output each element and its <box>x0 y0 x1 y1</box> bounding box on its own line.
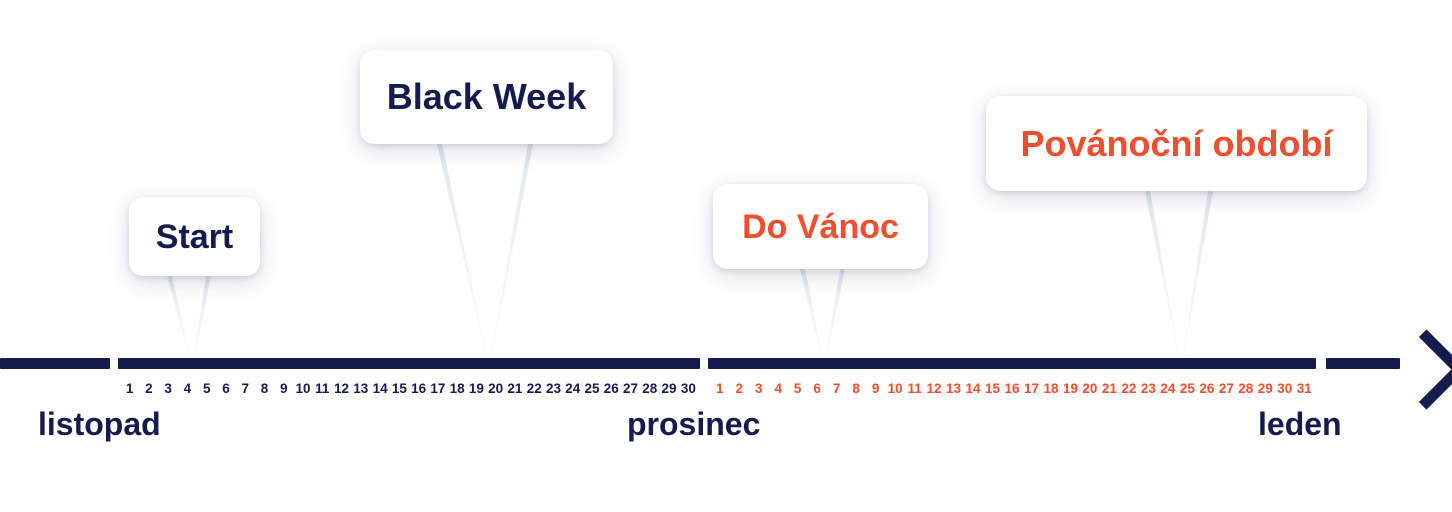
day-tick: 20 <box>486 382 505 396</box>
day-tick: 6 <box>807 382 826 396</box>
day-tick: 18 <box>448 382 467 396</box>
callout-label: Povánoční období <box>1021 126 1333 162</box>
day-tick: 26 <box>1197 382 1216 396</box>
day-tick: 24 <box>1158 382 1177 396</box>
month-label-prosinec: prosinec <box>627 408 760 440</box>
day-tick: 9 <box>866 382 885 396</box>
day-tick: 23 <box>544 382 563 396</box>
callout-do-vanoc[interactable]: Do Vánoc <box>713 184 928 269</box>
day-tick: 21 <box>1100 382 1119 396</box>
day-tick: 5 <box>197 382 216 396</box>
day-tick: 23 <box>1139 382 1158 396</box>
day-tick: 3 <box>749 382 768 396</box>
day-tick: 29 <box>659 382 678 396</box>
day-tick: 21 <box>505 382 524 396</box>
callout-label: Black Week <box>387 79 586 115</box>
day-tick: 8 <box>255 382 274 396</box>
day-tick: 26 <box>602 382 621 396</box>
month-label-leden: leden <box>1258 408 1342 440</box>
callout-pointer-povanocni-obdobi <box>1144 191 1214 358</box>
day-tick: 11 <box>905 382 924 396</box>
day-tick: 27 <box>621 382 640 396</box>
day-tick: 7 <box>236 382 255 396</box>
day-tick: 13 <box>944 382 963 396</box>
day-tick: 9 <box>274 382 293 396</box>
callout-start[interactable]: Start <box>129 197 260 276</box>
timeline-infographic: 1234567891011121314151617181920212223242… <box>0 0 1452 512</box>
day-tick: 12 <box>332 382 351 396</box>
day-tick: 25 <box>1178 382 1197 396</box>
day-tick: 10 <box>885 382 904 396</box>
day-tick: 3 <box>159 382 178 396</box>
day-tick: 6 <box>216 382 235 396</box>
day-tick: 19 <box>1061 382 1080 396</box>
day-tick: 20 <box>1080 382 1099 396</box>
axis-segment-listopad <box>118 358 700 369</box>
day-ticks-prosinec: 1234567891011121314151617181920212223242… <box>710 380 1314 398</box>
day-tick: 18 <box>1041 382 1060 396</box>
day-tick: 19 <box>467 382 486 396</box>
day-tick: 12 <box>924 382 943 396</box>
callout-label: Start <box>156 220 233 254</box>
day-tick: 13 <box>351 382 370 396</box>
day-tick: 28 <box>1236 382 1255 396</box>
day-tick: 14 <box>963 382 982 396</box>
day-tick: 22 <box>525 382 544 396</box>
day-tick: 17 <box>1022 382 1041 396</box>
day-tick: 30 <box>679 382 698 396</box>
day-tick: 5 <box>788 382 807 396</box>
callout-pointer-do-vanoc <box>799 269 846 358</box>
day-tick: 15 <box>983 382 1002 396</box>
day-tick: 16 <box>409 382 428 396</box>
day-tick: 2 <box>729 382 748 396</box>
day-tick: 10 <box>293 382 312 396</box>
day-tick: 4 <box>178 382 197 396</box>
day-tick: 1 <box>710 382 729 396</box>
callout-label: Do Vánoc <box>742 210 899 244</box>
callout-black-week[interactable]: Black Week <box>360 50 613 144</box>
callout-pointer-start <box>166 276 212 358</box>
day-tick: 2 <box>139 382 158 396</box>
day-tick: 15 <box>390 382 409 396</box>
day-tick: 31 <box>1295 382 1314 396</box>
arrow-right-icon <box>1386 329 1452 410</box>
day-tick: 25 <box>582 382 601 396</box>
axis-segment-lead-in <box>0 358 110 369</box>
day-tick: 28 <box>640 382 659 396</box>
callout-pointer-black-week <box>436 144 534 358</box>
day-tick: 24 <box>563 382 582 396</box>
day-tick: 11 <box>313 382 332 396</box>
day-tick: 27 <box>1217 382 1236 396</box>
callout-povanocni-obdobi[interactable]: Povánoční období <box>986 96 1367 191</box>
day-tick: 1 <box>120 382 139 396</box>
day-ticks-listopad: 1234567891011121314151617181920212223242… <box>120 380 698 398</box>
day-tick: 7 <box>827 382 846 396</box>
month-label-listopad: listopad <box>38 408 161 440</box>
day-tick: 4 <box>768 382 787 396</box>
day-tick: 16 <box>1002 382 1021 396</box>
day-tick: 17 <box>428 382 447 396</box>
day-tick: 14 <box>370 382 389 396</box>
day-tick: 29 <box>1256 382 1275 396</box>
axis-segment-prosinec <box>708 358 1316 369</box>
day-tick: 30 <box>1275 382 1294 396</box>
day-tick: 8 <box>846 382 865 396</box>
day-tick: 22 <box>1119 382 1138 396</box>
